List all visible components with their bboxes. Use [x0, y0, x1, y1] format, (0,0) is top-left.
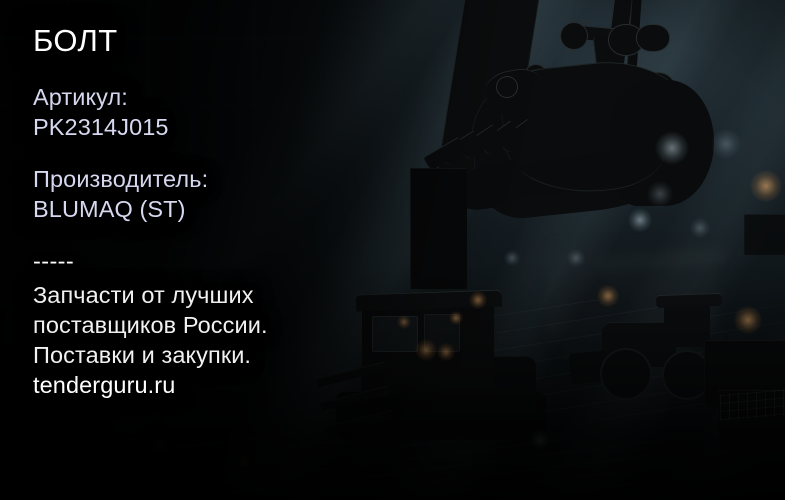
excavator-bucket-hinge-pin [496, 76, 518, 98]
text-column: БОЛТ Артикул: PK2314J015 Производитель: … [33, 22, 433, 400]
loader-bucket [569, 350, 612, 384]
bokeh-light [711, 129, 741, 159]
boom-pivot-joint [636, 24, 670, 52]
tagline-line-3: Поставки и закупки. [33, 340, 433, 370]
cargo-crate [704, 340, 785, 405]
section-divider: ----- [33, 250, 433, 272]
bokeh-light [504, 250, 520, 266]
boom-pivot-joint [603, 78, 633, 108]
excavator-boom [433, 0, 544, 209]
boom-pivot-joint [560, 22, 588, 50]
bucket-tooth [459, 124, 502, 161]
tagline-block: Запчасти от лучших поставщиков России. П… [33, 280, 433, 400]
blurred-loader-arm [598, 246, 729, 273]
article-field: Артикул: PK2314J015 [33, 82, 433, 142]
bokeh-light [647, 181, 673, 207]
product-banner: БОЛТ Артикул: PK2314J015 Производитель: … [0, 0, 785, 500]
hangar-floor-lines [420, 300, 785, 420]
bucket-tooth [498, 119, 538, 155]
wheel-loader-body [602, 322, 676, 367]
tagline-line-2: поставщиков России. [33, 310, 433, 340]
excavator-bucket-hinge [483, 65, 545, 111]
bokeh-light [530, 430, 550, 450]
excavator-bucket-back [610, 80, 714, 206]
bokeh-light [237, 455, 251, 469]
wheel-loader-cab [664, 300, 710, 347]
site-url: tenderguru.ru [33, 370, 433, 400]
tagline-line-1: Запчасти от лучших [33, 280, 433, 310]
cargo-crate-grid [720, 389, 785, 421]
article-value: PK2314J015 [33, 112, 433, 142]
bokeh-light [628, 208, 652, 232]
excavator-link-arm-secondary [593, 35, 617, 93]
bokeh-light [152, 438, 168, 454]
excavator-bucket-corner [448, 158, 528, 216]
bucket-tooth [439, 130, 483, 166]
boom-pivot-joint [524, 64, 548, 88]
blurred-loader-wheel [552, 290, 626, 364]
manufacturer-label: Производитель: [33, 164, 433, 194]
machinery-clutter [60, 438, 720, 500]
loader-wheel [662, 350, 712, 400]
bokeh-light [597, 285, 619, 307]
wheel-loader-canopy [656, 293, 722, 308]
bokeh-light [690, 218, 710, 238]
cargo-crate [744, 214, 785, 255]
boom-pivot-joint [640, 72, 676, 106]
manufacturer-value: BLUMAQ (ST) [33, 194, 433, 224]
bokeh-light [750, 170, 782, 202]
manufacturer-field: Производитель: BLUMAQ (ST) [33, 164, 433, 224]
excavator-bucket-lip [489, 144, 672, 203]
cargo-crate [718, 390, 785, 451]
bokeh-light [655, 131, 689, 165]
excavator-counterweight [432, 356, 536, 411]
article-label: Артикул: [33, 82, 433, 112]
excavator-bucket [465, 52, 710, 222]
boom-pivot-joint [608, 24, 644, 56]
blurred-loader-body [548, 244, 718, 336]
bokeh-light [469, 291, 487, 309]
bokeh-light [567, 249, 585, 267]
excavator-step [324, 410, 394, 436]
product-title: БОЛТ [33, 22, 433, 60]
excavator-hydraulic-rod [593, 0, 633, 170]
excavator-link-arm [566, 24, 659, 46]
excavator-hydraulic-rod-secondary [624, 0, 642, 110]
bucket-tooth [479, 120, 521, 156]
bokeh-light [449, 311, 463, 325]
bokeh-light [437, 343, 455, 361]
bokeh-light [734, 306, 762, 334]
loader-wheel [600, 348, 652, 400]
excavator-bucket-highlight [501, 95, 668, 202]
